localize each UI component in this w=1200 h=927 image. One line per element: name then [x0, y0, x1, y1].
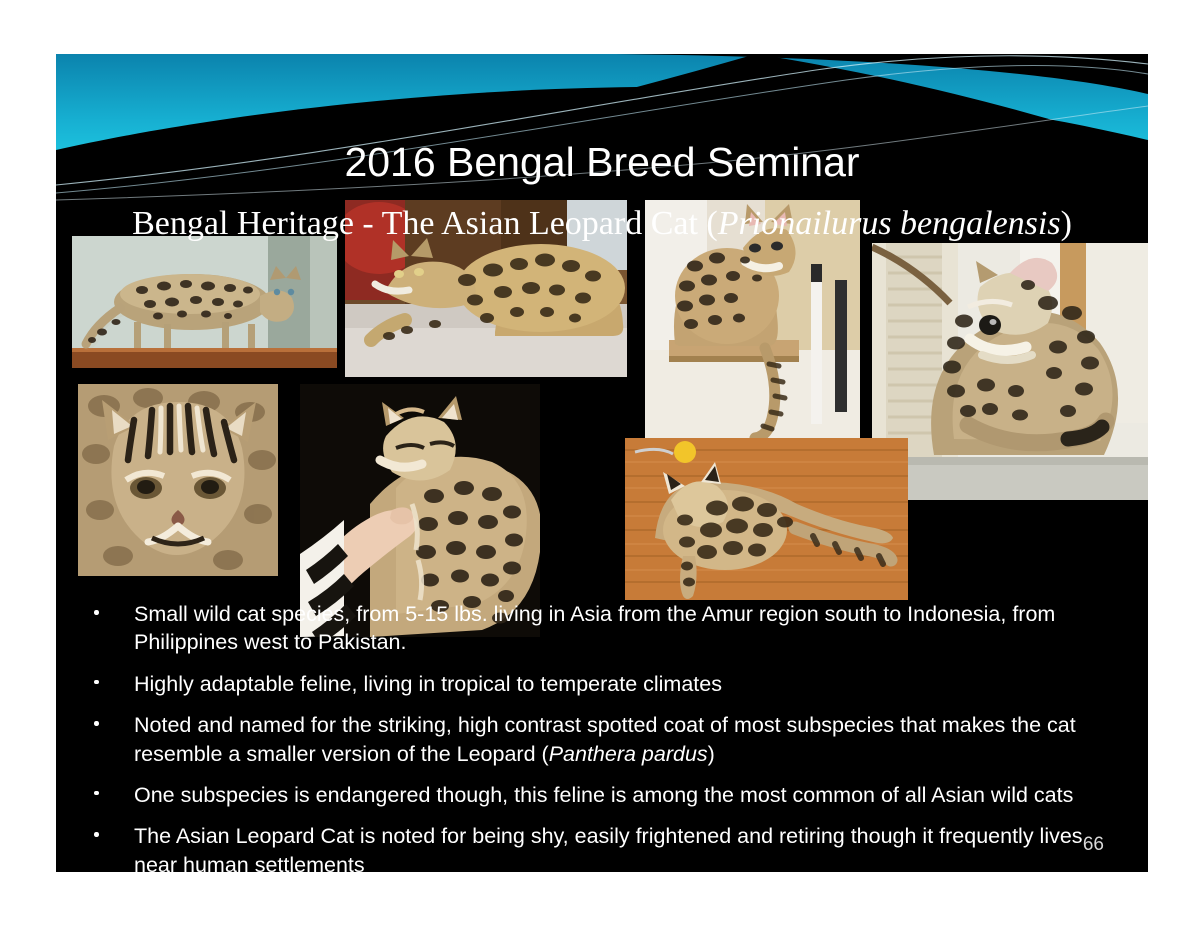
slide-title: 2016 Bengal Breed Seminar: [56, 142, 1148, 183]
bullet-list: Small wild cat species, from 5-15 lbs. l…: [78, 600, 1128, 872]
photo-leopard-cat-on-wood-floor: [625, 438, 908, 600]
bullet-item: Highly adaptable feline, living in tropi…: [78, 670, 1128, 698]
bullet-item: The Asian Leopard Cat is noted for being…: [78, 822, 1128, 872]
subtitle-main-text: Bengal Heritage - The Asian Leopard Cat …: [132, 205, 718, 242]
slide-page: 2016 Bengal Breed Seminar Bengal Heritag…: [0, 0, 1200, 927]
photo-collage: [56, 54, 1148, 614]
bullet-item: Noted and named for the striking, high c…: [78, 711, 1128, 768]
bullet-item: One subspecies is endangered though, thi…: [78, 781, 1128, 809]
subtitle-species-name: Prionailurus bengalensis: [718, 205, 1061, 242]
subtitle-close-paren: ): [1061, 205, 1072, 242]
slide-subtitle: Bengal Heritage - The Asian Leopard Cat …: [56, 204, 1148, 243]
bullet-item: Small wild cat species, from 5-15 lbs. l…: [78, 600, 1128, 657]
bullet-species-name: Panthera pardus: [549, 742, 708, 766]
photo-standing-leopard-cat-on-shelf: [72, 236, 337, 368]
slide-number: 66: [1083, 834, 1104, 856]
photo-leopard-cat-face-closeup: [78, 384, 278, 576]
bullet-text-post: ): [708, 742, 715, 766]
presentation-slide: 2016 Bengal Breed Seminar Bengal Heritag…: [56, 54, 1148, 872]
photo-curled-leopard-cat-on-cat-tree: [872, 243, 1148, 500]
